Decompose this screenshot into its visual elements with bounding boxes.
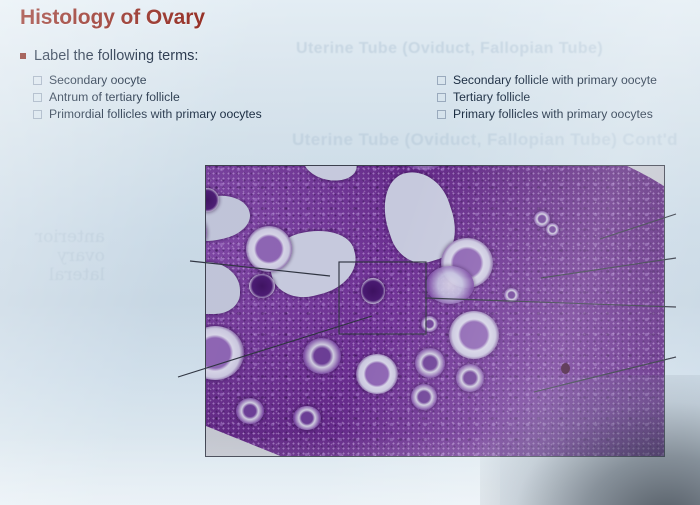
term-label: Secondary oocyte [49,72,147,89]
primordial-follicle [546,223,559,236]
list-item[interactable]: Secondary oocyte [33,72,262,89]
ovary-section [205,165,665,457]
empty-checkbox-icon[interactable] [437,76,446,85]
primary-follicle [415,348,445,378]
list-item[interactable]: Primary follicles with primary oocytes [437,106,657,123]
instruction-label: Label the following terms: [34,48,198,64]
ghost-text-top: Uterine Tube (Oviduct, Fallopian Tube) [296,40,603,58]
term-label: Primary follicles with primary oocytes [453,106,653,123]
instruction-line: Label the following terms: [20,48,198,64]
term-label: Tertiary follicle [453,89,530,106]
empty-checkbox-icon[interactable] [33,76,42,85]
histology-micrograph [205,165,665,457]
term-label: Primordial follicles with primary oocyte… [49,106,262,123]
primary-follicle [303,338,341,374]
term-label: Secondary follicle with primary oocyte [453,72,657,89]
empty-checkbox-icon[interactable] [33,110,42,119]
primordial-follicle [421,316,438,332]
secondary-follicle [356,354,398,394]
square-bullet-icon [20,53,26,59]
secondary-oocyte [361,278,385,304]
list-item[interactable]: Primordial follicles with primary oocyte… [33,106,262,123]
list-item[interactable]: Secondary follicle with primary oocyte [437,72,657,89]
corpus-albicans [426,266,474,304]
terms-column-left: Secondary oocyte Antrum of tertiary foll… [33,72,262,123]
primary-follicle [411,384,437,410]
ghost-handwriting: anterior ovary lateral [35,228,105,285]
empty-checkbox-icon[interactable] [437,93,446,102]
list-item[interactable]: Antrum of tertiary follicle [33,89,262,106]
terms-column-right: Secondary follicle with primary oocyte T… [437,72,657,123]
primary-follicle [293,406,321,430]
presentation-slide: Uterine Tube (Oviduct, Fallopian Tube) U… [0,0,700,505]
empty-checkbox-icon[interactable] [33,93,42,102]
list-item[interactable]: Tertiary follicle [437,89,657,106]
primary-follicle [456,364,484,392]
primary-follicle [236,398,264,424]
secondary-follicle [449,311,499,359]
page-title: Histology of Ovary [20,6,205,30]
empty-checkbox-icon[interactable] [437,110,446,119]
ghost-text-middle: Uterine Tube (Oviduct, Fallopian Tube) C… [292,130,678,150]
edge-artifact [561,363,570,374]
term-label: Antrum of tertiary follicle [49,89,180,106]
primordial-follicle [504,288,519,302]
secondary-follicle [246,226,292,272]
oocyte [249,274,275,298]
